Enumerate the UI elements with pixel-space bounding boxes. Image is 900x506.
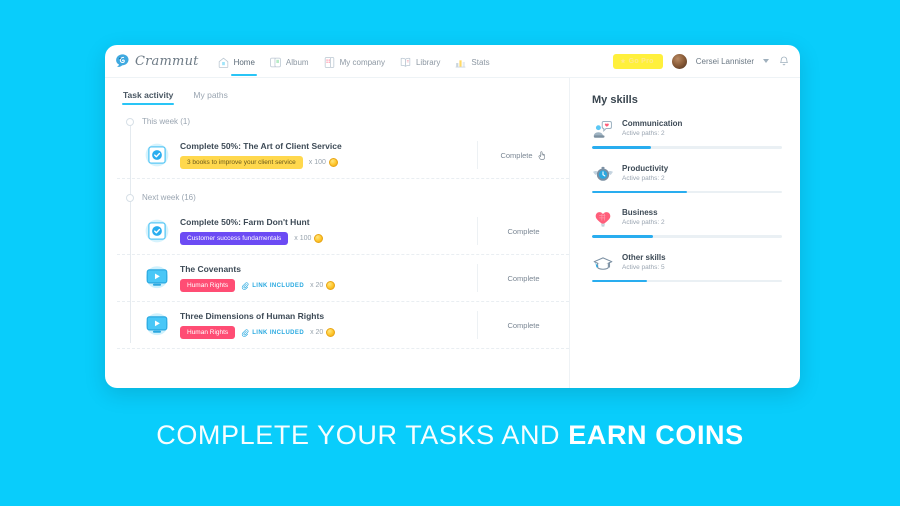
nav-label: My company [340,58,385,67]
nav-item-library[interactable]: Library [399,45,440,78]
tab-task-activity[interactable]: Task activity [123,90,173,105]
star-icon [620,58,626,64]
skill-name: Other skills [622,253,782,262]
tab-my-paths[interactable]: My paths [193,90,228,105]
skill-item-business[interactable]: Business Active paths: 2 [592,208,782,235]
skill-name: Communication [622,119,782,128]
task-activity-panel: Task activity My paths This week (1) [105,78,569,388]
link-included-badge[interactable]: LINK INCLUDED [241,282,304,290]
nav-items: Home Album My company [217,45,490,78]
task-action-cell: Complete [477,264,569,292]
task-tag[interactable]: Customer success fundamentals [180,232,288,245]
coin-icon [329,158,338,167]
graduation-cap-icon [592,254,614,274]
skill-item-productivity[interactable]: Productivity Active paths: 2 [592,164,782,191]
link-included-label: LINK INCLUDED [252,283,304,289]
bar-chart-icon [454,56,467,69]
swirl-bird-logo-icon [114,53,131,70]
coin-multiplier: x 100 [294,235,311,242]
task-reward: x 20 [310,328,335,337]
coin-icon [314,234,323,243]
top-navigation-bar: Crammut Home Album [105,45,800,78]
skill-progress-fill [592,235,653,238]
task-content: Complete 50%: Farm Don't Hunt Customer s… [180,217,477,245]
checkmark-square-icon [143,218,171,244]
task-action-cell: Complete [477,141,569,169]
nav-right-cluster: Go Pro Cersei Lannister [613,54,790,69]
brand-name: Crammut [135,54,199,69]
skill-active-paths: Active paths: 2 [622,219,782,226]
task-tag[interactable]: 3 books to improve your client service [180,156,303,169]
timeline-dot-icon [126,194,134,202]
coin-icon [326,328,335,337]
skill-progress-bar [592,235,782,238]
task-reward: x 100 [294,234,323,243]
home-icon [217,56,230,69]
checkmark-square-icon [143,142,171,168]
complete-button[interactable]: Complete [507,321,539,330]
task-title: The Covenants [180,264,477,274]
task-meta: 3 books to improve your client service x… [180,156,477,169]
skill-progress-bar [592,191,782,194]
group-label: This week (1) [142,117,190,126]
tab-label: Task activity [123,90,173,100]
coin-icon [326,281,335,290]
go-pro-label: Go Pro [629,58,654,65]
task-meta: Human Rights LINK INCLUDED x 20 [180,326,477,339]
heart-lightbulb-icon [592,209,614,229]
task-row[interactable]: Complete 50%: Farm Don't Hunt Customer s… [117,208,569,255]
video-monitor-icon [143,312,171,338]
hand-cursor-icon [537,150,547,161]
caption-light-text: COMPLETE YOUR TASKS AND [156,420,568,450]
nav-item-album[interactable]: Album [269,45,309,78]
skill-item-other-skills[interactable]: Other skills Active paths: 5 [592,253,782,280]
task-row[interactable]: The Covenants Human Rights LINK INCLUDED… [117,255,569,302]
skill-progress-fill [592,191,687,194]
nav-label: Album [286,58,309,67]
task-content: Three Dimensions of Human Rights Human R… [180,311,477,339]
brand-logo[interactable]: Crammut [114,53,199,70]
task-tag[interactable]: Human Rights [180,279,235,292]
paperclip-icon [241,282,249,290]
skill-active-paths: Active paths: 5 [622,264,782,271]
skill-name: Business [622,208,782,217]
task-tag[interactable]: Human Rights [180,326,235,339]
task-reward: x 100 [309,158,338,167]
notification-bell-icon[interactable] [778,55,790,68]
caption-bold-text: EARN COINS [568,420,744,450]
task-row[interactable]: Complete 50%: The Art of Client Service … [117,132,569,179]
go-pro-button[interactable]: Go Pro [613,54,663,69]
skill-active-paths: Active paths: 2 [622,130,782,137]
active-tab-underline [231,74,257,76]
task-meta: Human Rights LINK INCLUDED x 20 [180,279,477,292]
tab-label: My paths [193,90,228,100]
nav-label: Home [234,58,255,67]
timeline-group-header: Next week (16) [117,193,569,202]
card-body: Task activity My paths This week (1) [105,78,800,388]
task-content: Complete 50%: The Art of Client Service … [180,141,477,169]
user-name: Cersei Lannister [696,57,754,66]
task-title: Complete 50%: The Art of Client Service [180,141,477,151]
task-action-cell: Complete [477,311,569,339]
nav-label: Library [416,58,440,67]
task-content: The Covenants Human Rights LINK INCLUDED… [180,264,477,292]
task-title: Three Dimensions of Human Rights [180,311,477,321]
coin-multiplier: x 20 [310,329,323,336]
nav-item-home[interactable]: Home [217,45,255,78]
winged-clock-icon [592,165,614,185]
my-skills-panel: My skills Communication Active paths: 2 [569,78,800,388]
skill-progress-fill [592,146,651,149]
album-icon [269,56,282,69]
nav-label: Stats [471,58,489,67]
task-meta: Customer success fundamentals x 100 [180,232,477,245]
skill-progress-bar [592,280,782,283]
company-icon [323,56,336,69]
skills-panel-title: My skills [592,94,782,106]
caption: COMPLETE YOUR TASKS AND EARN COINS [0,420,900,451]
chevron-down-icon[interactable] [763,59,769,63]
skill-item-communication[interactable]: Communication Active paths: 2 [592,119,782,146]
task-title: Complete 50%: Farm Don't Hunt [180,217,477,227]
tab-bar: Task activity My paths [117,90,569,105]
complete-button[interactable]: Complete [507,227,539,236]
skill-progress-bar [592,146,782,149]
task-reward: x 20 [310,281,335,290]
skill-progress-fill [592,280,647,283]
timeline-dot-icon [126,118,134,126]
person-speech-heart-icon [592,120,614,140]
link-included-badge[interactable]: LINK INCLUDED [241,329,304,337]
complete-button[interactable]: Complete [500,151,532,160]
nav-item-my-company[interactable]: My company [323,45,385,78]
library-book-icon [399,56,412,69]
task-timeline: This week (1) Complete 50%: The Art of C… [117,117,569,349]
coin-multiplier: x 100 [309,159,326,166]
group-label: Next week (16) [142,193,196,202]
nav-item-stats[interactable]: Stats [454,45,489,78]
skill-name: Productivity [622,164,782,173]
task-action-cell: Complete [477,217,569,245]
video-monitor-icon [143,265,171,291]
link-included-label: LINK INCLUDED [252,330,304,336]
app-window: Crammut Home Album [105,45,800,388]
timeline-group-header: This week (1) [117,117,569,126]
complete-button[interactable]: Complete [507,274,539,283]
avatar[interactable] [672,54,687,69]
task-row[interactable]: Three Dimensions of Human Rights Human R… [117,302,569,349]
paperclip-icon [241,329,249,337]
skill-active-paths: Active paths: 2 [622,175,782,182]
coin-multiplier: x 20 [310,282,323,289]
